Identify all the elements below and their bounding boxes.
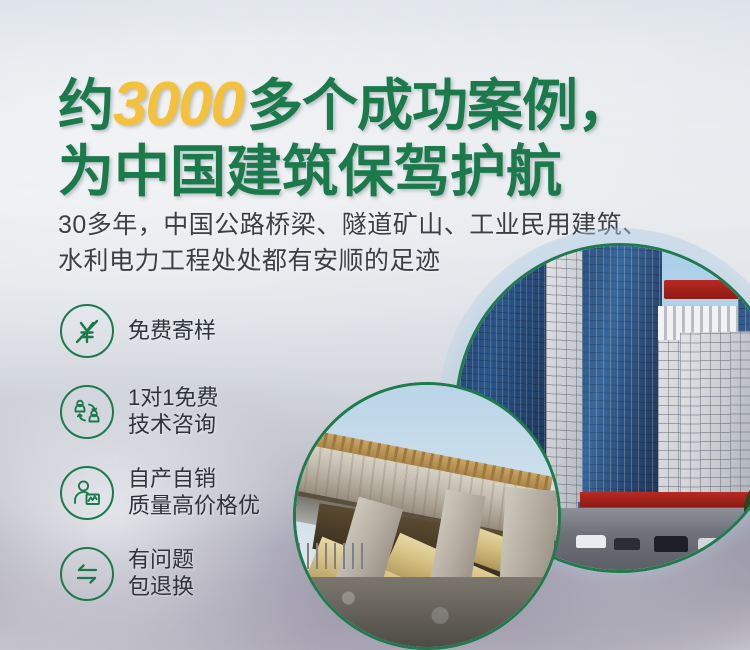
feature-line-2: 质量高价格优 xyxy=(128,493,260,520)
promo-banner: 约3000多个成功案例， 为中国建筑保驾护航 30多年，中国公路桥梁、隧道矿山、… xyxy=(0,0,750,650)
feature-line-1: 免费寄样 xyxy=(128,318,216,345)
facade-red-sign xyxy=(580,492,750,507)
ground-rubble xyxy=(296,577,558,647)
headline-suffix: 多个成功案例， xyxy=(247,74,632,137)
car-4 xyxy=(698,538,724,550)
feature-item-free-sample[interactable]: 免费寄样 xyxy=(60,300,320,362)
headline: 约3000多个成功案例， 为中国建筑保驾护航 xyxy=(58,74,632,200)
two-people-exchange-icon xyxy=(60,385,114,439)
car-5 xyxy=(734,537,750,548)
distant-scaffold xyxy=(298,543,368,569)
feature-line-1: 自产自销 xyxy=(128,466,260,493)
feature-line-1: 1对1免费 xyxy=(128,385,218,412)
car-2 xyxy=(614,538,640,550)
feature-text: 免费寄样 xyxy=(128,318,216,345)
feature-list: 免费寄样 1对1免费 技术咨询 xyxy=(60,300,320,605)
feature-line-2: 包退换 xyxy=(128,574,194,601)
bridge-scene xyxy=(296,385,558,647)
feature-text: 有问题 包退换 xyxy=(128,547,194,601)
person-chart-icon xyxy=(60,466,114,520)
bridge-photo xyxy=(293,382,561,650)
headline-line-2: 为中国建筑保驾护航 xyxy=(58,144,632,200)
car-1 xyxy=(576,535,606,548)
exchange-arrows-icon xyxy=(60,547,114,601)
headline-number: 3000 xyxy=(113,70,247,139)
feature-line-2: 技术咨询 xyxy=(128,412,218,439)
tower-main-glass xyxy=(582,243,662,532)
feature-text: 自产自销 质量高价格优 xyxy=(128,466,260,520)
tower-right-cap xyxy=(738,245,750,263)
feature-item-quality[interactable]: 自产自销 质量高价格优 xyxy=(60,462,320,524)
feature-item-return[interactable]: 有问题 包退换 xyxy=(60,543,320,605)
rooftop-red-sign-top xyxy=(664,280,740,299)
headline-prefix: 约 xyxy=(58,74,113,137)
headline-line-1: 约3000多个成功案例， xyxy=(58,74,632,136)
feature-item-consultation[interactable]: 1对1免费 技术咨询 xyxy=(60,381,320,443)
car-3 xyxy=(654,536,688,552)
feature-line-1: 有问题 xyxy=(128,547,194,574)
free-yen-icon xyxy=(60,304,114,358)
feature-text: 1对1免费 技术咨询 xyxy=(128,385,218,439)
